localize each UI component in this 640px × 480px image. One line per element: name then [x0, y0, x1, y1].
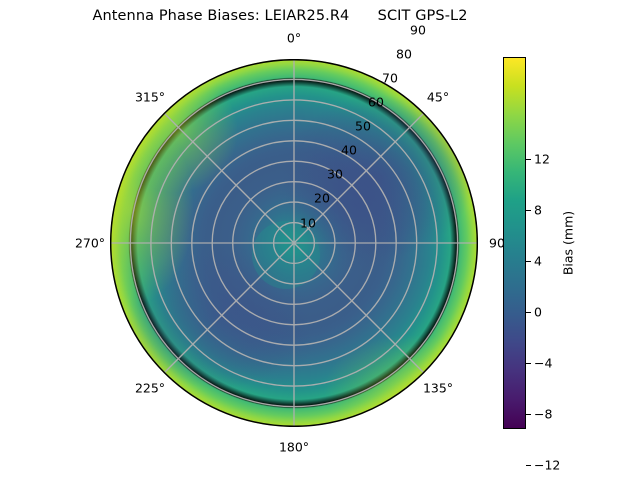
colorbar-ticklabel-12: 12	[534, 152, 550, 167]
colorbar-ticklabel-neg12: −12	[534, 458, 560, 473]
colorbar-ticklabel-8: 8	[534, 203, 542, 218]
r-tick-label-20: 20	[314, 191, 330, 206]
colorbar-axis-label: Bias (mm)	[561, 211, 576, 275]
polar-plot-svg	[110, 59, 478, 427]
r-tick-label-50: 50	[355, 119, 371, 134]
r-tick-label-40: 40	[341, 143, 357, 158]
r-tick-label-90: 90	[410, 23, 426, 38]
colorbar-tick-4	[526, 261, 531, 262]
r-tick-label-70: 70	[382, 71, 398, 86]
colorbar-tick-neg4	[526, 363, 531, 364]
colorbar-ticklabel-neg8: −8	[534, 407, 552, 422]
colorbar-ticklabel-neg4: −4	[534, 356, 552, 371]
colorbar-tick-0	[526, 312, 531, 313]
theta-tick-label-45: 45°	[427, 90, 449, 105]
colorbar-ticklabel-4: 4	[534, 254, 542, 269]
colorbar-tick-8	[526, 210, 531, 211]
r-tick-label-10: 10	[300, 216, 316, 231]
colorbar-tick-neg8	[526, 414, 531, 415]
r-tick-label-60: 60	[368, 95, 384, 110]
theta-tick-label-315: 315°	[135, 90, 165, 105]
polar-grid	[110, 59, 478, 427]
polar-data-field	[110, 59, 478, 427]
theta-tick-label-0: 0°	[287, 31, 301, 46]
colorbar-gradient	[503, 57, 526, 429]
colorbar-ticklabel-0: 0	[534, 305, 542, 320]
colorbar-tick-12	[526, 159, 531, 160]
figure-title: Antenna Phase Biases: LEIAR25.R4 SCIT GP…	[0, 8, 560, 24]
polar-axes: 10 20 30 40 50 60 70 80 90	[110, 59, 478, 427]
theta-tick-label-135: 135°	[423, 381, 453, 396]
theta-tick-label-180: 180°	[279, 440, 309, 455]
theta-tick-label-225: 225°	[135, 381, 165, 396]
colorbar: 12 8 4 0 −4 −8 −12	[503, 57, 526, 429]
colorbar-tick-neg12	[526, 465, 531, 466]
r-tick-label-80: 80	[396, 47, 412, 62]
theta-tick-label-270: 270°	[75, 236, 105, 251]
r-tick-label-30: 30	[327, 167, 343, 182]
figure-canvas: Antenna Phase Biases: LEIAR25.R4 SCIT GP…	[0, 0, 640, 480]
